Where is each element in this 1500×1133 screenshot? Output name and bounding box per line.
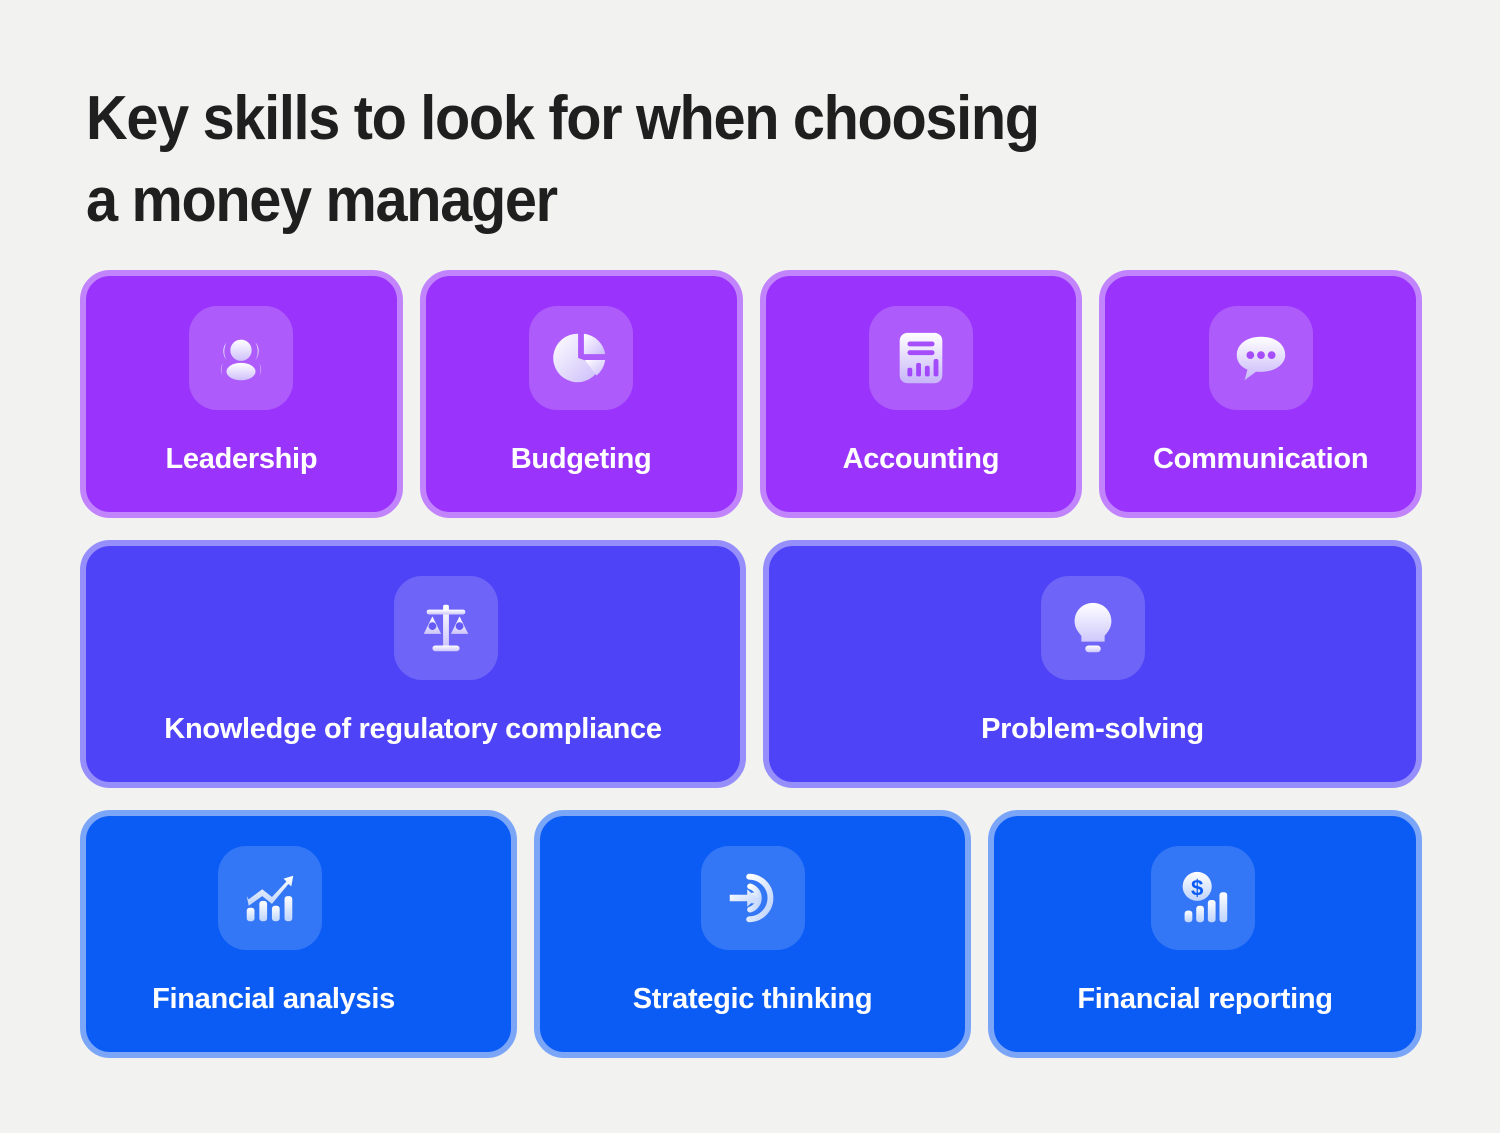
skill-card-financial-analysis[interactable]: Financial analysis [80, 810, 517, 1058]
pie-chart-icon [529, 306, 633, 410]
page-title: Key skills to look for when choosing a m… [86, 78, 1258, 243]
people-group-icon [189, 306, 293, 410]
skill-card-communication[interactable]: Communication [1099, 270, 1422, 518]
skill-card-problem-solving[interactable]: Problem-solving [763, 540, 1422, 788]
skill-card-strategic-thinking[interactable]: Strategic thinking [534, 810, 971, 1058]
skill-card-label: Budgeting [495, 443, 668, 476]
skill-card-label: Communication [1137, 443, 1384, 476]
skills-row-2: Knowledge of regulatory compliance Probl [80, 540, 1422, 788]
skill-card-label: Leadership [150, 443, 334, 476]
growth-chart-icon [218, 846, 322, 950]
svg-text:$: $ [1191, 876, 1204, 901]
skill-card-label: Problem-solving [965, 713, 1220, 746]
speech-bubble-icon [1209, 306, 1313, 410]
dollar-bars-icon: $ [1151, 846, 1255, 950]
target-arrow-icon [701, 846, 805, 950]
skills-grid: Leadership Budgeting [80, 270, 1422, 1058]
skills-row-1: Leadership Budgeting [80, 270, 1422, 518]
skill-card-label: Strategic thinking [617, 983, 889, 1016]
infographic-page: Key skills to look for when choosing a m… [0, 0, 1500, 1133]
skill-card-accounting[interactable]: Accounting [760, 270, 1083, 518]
balance-scale-icon [394, 576, 498, 680]
skill-card-label: Knowledge of regulatory compliance [148, 713, 677, 746]
skill-card-label: Accounting [827, 443, 1016, 476]
skill-card-financial-reporting[interactable]: $ Financial reporting [988, 810, 1422, 1058]
skill-card-leadership[interactable]: Leadership [80, 270, 403, 518]
skill-card-label: Financial reporting [1061, 983, 1348, 1016]
skills-row-3: Financial analysis [80, 810, 1422, 1058]
skill-card-budgeting[interactable]: Budgeting [420, 270, 743, 518]
skill-card-label: Financial analysis [136, 983, 411, 1016]
report-document-icon [869, 306, 973, 410]
skill-card-regulatory-compliance[interactable]: Knowledge of regulatory compliance [80, 540, 746, 788]
lightbulb-icon [1041, 576, 1145, 680]
